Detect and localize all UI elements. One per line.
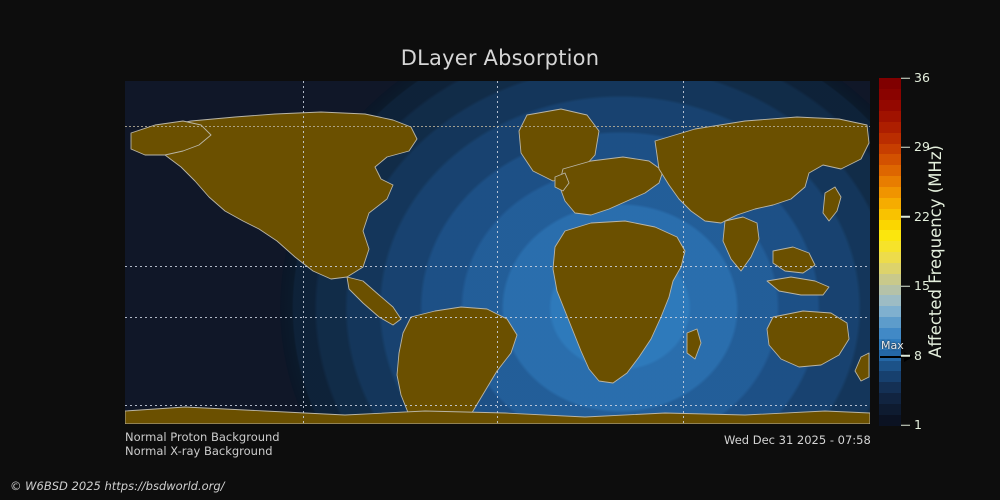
colorbar-band bbox=[879, 219, 901, 230]
colorbar-band bbox=[879, 186, 901, 197]
colorbar-band bbox=[879, 176, 901, 187]
colorbar-band bbox=[879, 252, 901, 263]
gridline-vertical bbox=[497, 81, 498, 424]
colorbar-gradient bbox=[879, 78, 901, 425]
app-root: DLayer Absorption bbox=[0, 0, 1000, 500]
colorbar-band bbox=[879, 100, 901, 111]
graticule bbox=[125, 81, 870, 424]
colorbar-band bbox=[879, 392, 901, 403]
colorbar-band bbox=[879, 317, 901, 328]
colorbar-band bbox=[879, 154, 901, 165]
credit-line: © W6BSD 2025 https://bsdworld.org/ bbox=[10, 479, 225, 493]
page-title: DLayer Absorption bbox=[0, 46, 1000, 70]
xray-background-status: Normal X-ray Background bbox=[125, 444, 273, 458]
colorbar-band bbox=[879, 111, 901, 122]
colorbar-band bbox=[879, 414, 901, 425]
gridline-horizontal bbox=[125, 405, 870, 406]
colorbar-band bbox=[879, 327, 901, 338]
gridline-vertical bbox=[683, 81, 684, 424]
colorbar-band bbox=[879, 132, 901, 143]
colorbar-band bbox=[879, 165, 901, 176]
colorbar-band bbox=[879, 208, 901, 219]
tick-dash bbox=[901, 355, 910, 357]
colorbar-band bbox=[879, 360, 901, 371]
colorbar-band bbox=[879, 197, 901, 208]
colorbar-axis-label: Affected Frequency (MHz) bbox=[915, 78, 955, 425]
gridline-horizontal bbox=[125, 317, 870, 318]
tick-dash bbox=[901, 77, 910, 79]
tick-dash bbox=[901, 216, 910, 218]
tick-dash bbox=[901, 424, 910, 426]
colorbar: Max bbox=[879, 78, 901, 425]
colorbar-band bbox=[879, 262, 901, 273]
colorbar-band bbox=[879, 273, 901, 284]
colorbar-band bbox=[879, 403, 901, 414]
tick-dash bbox=[901, 147, 910, 149]
colorbar-band bbox=[879, 89, 901, 100]
colorbar-band bbox=[879, 121, 901, 132]
colorbar-band bbox=[879, 382, 901, 393]
gridline-vertical bbox=[303, 81, 304, 424]
colorbar-band bbox=[879, 371, 901, 382]
colorbar-band bbox=[879, 295, 901, 306]
world-map[interactable] bbox=[125, 81, 870, 424]
gridline-horizontal-arctic bbox=[125, 126, 870, 127]
timestamp: Wed Dec 31 2025 - 07:58 bbox=[724, 433, 871, 447]
colorbar-band bbox=[879, 241, 901, 252]
colorbar-band bbox=[879, 284, 901, 295]
tick-dash bbox=[901, 285, 910, 287]
colorbar-band bbox=[879, 143, 901, 154]
colorbar-band bbox=[879, 78, 901, 89]
gridline-horizontal bbox=[125, 266, 870, 267]
proton-background-status: Normal Proton Background bbox=[125, 430, 280, 444]
colorbar-band bbox=[879, 306, 901, 317]
colorbar-axis-label-text: Affected Frequency (MHz) bbox=[926, 145, 945, 358]
colorbar-band bbox=[879, 230, 901, 241]
